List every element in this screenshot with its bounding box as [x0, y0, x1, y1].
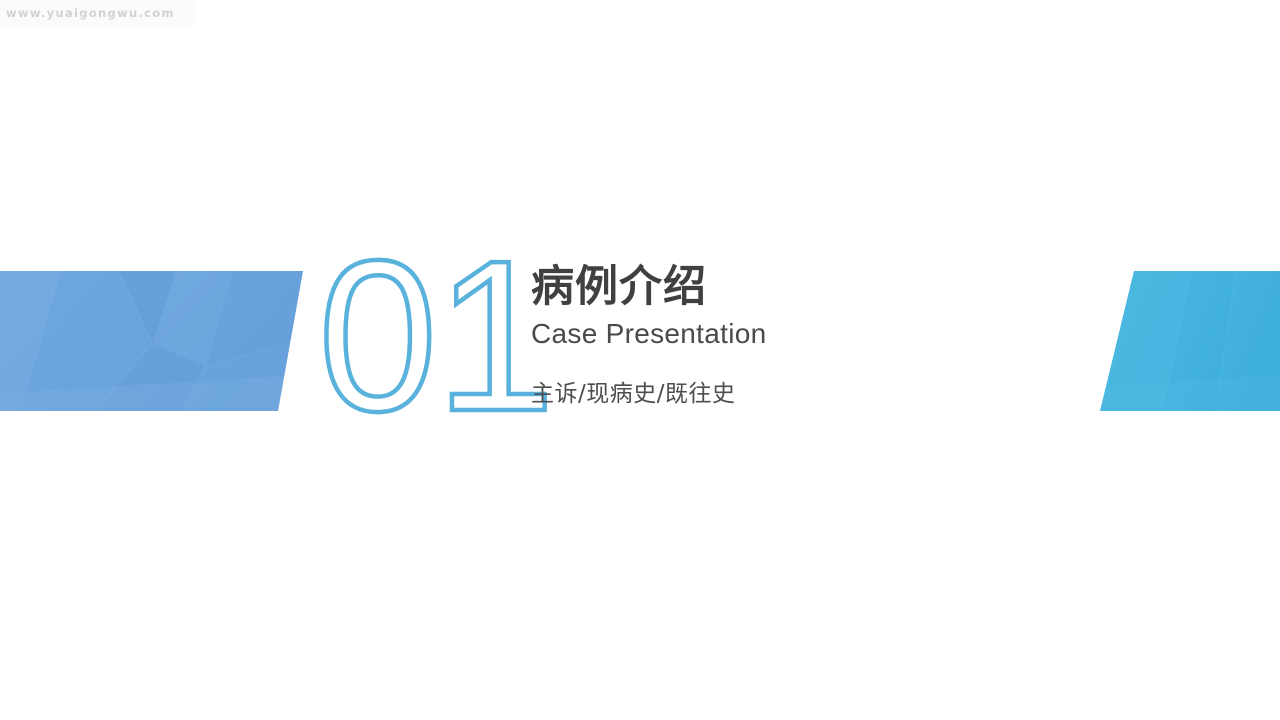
- page-subtitle: 主诉/现病史/既往史: [531, 382, 766, 407]
- watermark-banner: www.yuaigongwu.com: [0, 0, 196, 26]
- watermark-text: www.yuaigongwu.com: [0, 6, 175, 20]
- section-number: 01: [318, 248, 493, 428]
- page-title-english: Case Presentation: [531, 319, 766, 350]
- section-heading-block: 病例介绍 Case Presentation 主诉/现病史/既往史: [531, 262, 766, 407]
- page-title: 病例介绍: [531, 262, 766, 313]
- decoration-left-parallelogram: [0, 271, 305, 411]
- section-number-glyph: 01: [318, 215, 553, 456]
- decoration-right-parallelogram: [1096, 271, 1280, 411]
